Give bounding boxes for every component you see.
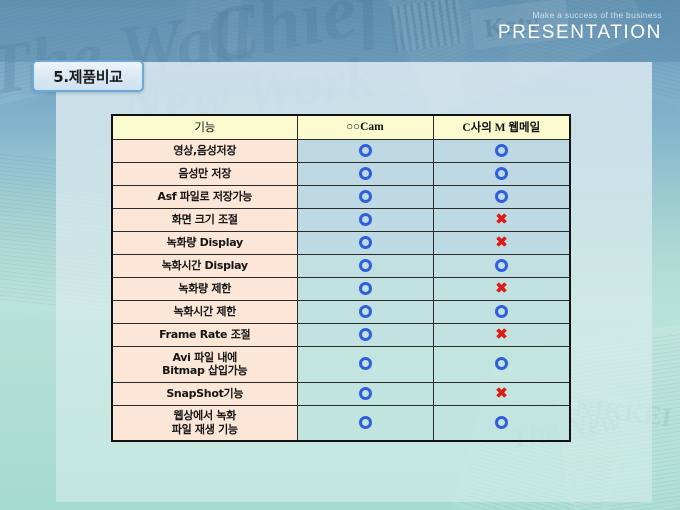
supported-circle-icon bbox=[495, 305, 508, 318]
column-header-oocam: ○○Cam bbox=[297, 115, 433, 139]
supported-circle-icon bbox=[359, 167, 372, 180]
supported-circle-icon bbox=[359, 259, 372, 272]
table-body: 영상,음성저장음성만 저장Asf 파일로 저장가능화면 크기 조절✖녹화량 Di… bbox=[112, 139, 570, 441]
mark-cell-c-webmail: ✖ bbox=[433, 323, 570, 346]
mark-cell-c-webmail: ✖ bbox=[433, 208, 570, 231]
table-header: 기능 ○○Cam C사의 M 웹메일 bbox=[112, 115, 570, 139]
table-row: 녹화시간 제한 bbox=[112, 300, 570, 323]
brand-tagline: Make a success of the business bbox=[498, 11, 662, 20]
feature-cell: 녹화량 제한 bbox=[112, 277, 297, 300]
mark-cell-oocam bbox=[297, 254, 433, 277]
table-row: 웹상에서 녹화파일 재생 기능 bbox=[112, 405, 570, 441]
feature-cell: 녹화시간 제한 bbox=[112, 300, 297, 323]
unsupported-cross-icon: ✖ bbox=[495, 235, 508, 250]
table-row: Avi 파일 내에Bitmap 삽입가능 bbox=[112, 346, 570, 382]
brand-block: Make a success of the business PRESENTAT… bbox=[498, 11, 662, 42]
slide-root: Katy Chief The Wall New Work The New NIK… bbox=[0, 0, 680, 510]
column-header-feature: 기능 bbox=[112, 115, 297, 139]
brand-title: PRESENTATION bbox=[498, 23, 662, 42]
feature-cell: 영상,음성저장 bbox=[112, 139, 297, 162]
table-row: 음성만 저장 bbox=[112, 162, 570, 185]
supported-circle-icon bbox=[359, 213, 372, 226]
table-row: 녹화량 제한✖ bbox=[112, 277, 570, 300]
table-row: 녹화시간 Display bbox=[112, 254, 570, 277]
supported-circle-icon bbox=[495, 259, 508, 272]
mark-cell-c-webmail: ✖ bbox=[433, 277, 570, 300]
feature-cell: SnapShot기능 bbox=[112, 382, 297, 405]
table-row: 영상,음성저장 bbox=[112, 139, 570, 162]
mark-cell-c-webmail: ✖ bbox=[433, 382, 570, 405]
table-row: 녹화량 Display✖ bbox=[112, 231, 570, 254]
mark-cell-c-webmail bbox=[433, 405, 570, 441]
supported-circle-icon bbox=[359, 357, 372, 370]
table-row: SnapShot기능✖ bbox=[112, 382, 570, 405]
slide-title-text: 5.제품비교 bbox=[53, 66, 123, 87]
supported-circle-icon bbox=[359, 387, 372, 400]
supported-circle-icon bbox=[359, 236, 372, 249]
supported-circle-icon bbox=[359, 416, 372, 429]
unsupported-cross-icon: ✖ bbox=[495, 212, 508, 227]
mark-cell-c-webmail: ✖ bbox=[433, 231, 570, 254]
supported-circle-icon bbox=[495, 167, 508, 180]
mark-cell-oocam bbox=[297, 162, 433, 185]
mark-cell-oocam bbox=[297, 323, 433, 346]
feature-cell: 화면 크기 조절 bbox=[112, 208, 297, 231]
mark-cell-c-webmail bbox=[433, 254, 570, 277]
mark-cell-c-webmail bbox=[433, 346, 570, 382]
product-comparison-table: 기능 ○○Cam C사의 M 웹메일 영상,음성저장음성만 저장Asf 파일로 … bbox=[111, 114, 571, 442]
mark-cell-oocam bbox=[297, 300, 433, 323]
mark-cell-c-webmail bbox=[433, 139, 570, 162]
mark-cell-c-webmail bbox=[433, 162, 570, 185]
table-row: 화면 크기 조절✖ bbox=[112, 208, 570, 231]
supported-circle-icon bbox=[359, 305, 372, 318]
mark-cell-oocam bbox=[297, 405, 433, 441]
supported-circle-icon bbox=[495, 357, 508, 370]
mark-cell-c-webmail bbox=[433, 185, 570, 208]
table-row: Asf 파일로 저장가능 bbox=[112, 185, 570, 208]
feature-cell: Asf 파일로 저장가능 bbox=[112, 185, 297, 208]
mark-cell-oocam bbox=[297, 346, 433, 382]
mark-cell-oocam bbox=[297, 185, 433, 208]
table-header-row: 기능 ○○Cam C사의 M 웹메일 bbox=[112, 115, 570, 139]
feature-cell: Frame Rate 조절 bbox=[112, 323, 297, 346]
supported-circle-icon bbox=[359, 190, 372, 203]
supported-circle-icon bbox=[359, 282, 372, 295]
unsupported-cross-icon: ✖ bbox=[495, 327, 508, 342]
mark-cell-oocam bbox=[297, 277, 433, 300]
table-row: Frame Rate 조절✖ bbox=[112, 323, 570, 346]
feature-cell: 녹화량 Display bbox=[112, 231, 297, 254]
mark-cell-c-webmail bbox=[433, 300, 570, 323]
unsupported-cross-icon: ✖ bbox=[495, 386, 508, 401]
supported-circle-icon bbox=[359, 144, 372, 157]
feature-cell: 웹상에서 녹화파일 재생 기능 bbox=[112, 405, 297, 441]
unsupported-cross-icon: ✖ bbox=[495, 281, 508, 296]
supported-circle-icon bbox=[495, 190, 508, 203]
supported-circle-icon bbox=[495, 416, 508, 429]
mark-cell-oocam bbox=[297, 208, 433, 231]
supported-circle-icon bbox=[495, 144, 508, 157]
feature-cell: 녹화시간 Display bbox=[112, 254, 297, 277]
feature-cell: 음성만 저장 bbox=[112, 162, 297, 185]
supported-circle-icon bbox=[359, 328, 372, 341]
mark-cell-oocam bbox=[297, 231, 433, 254]
slide-title-badge: 5.제품비교 bbox=[32, 60, 144, 92]
feature-cell: Avi 파일 내에Bitmap 삽입가능 bbox=[112, 346, 297, 382]
mark-cell-oocam bbox=[297, 139, 433, 162]
mark-cell-oocam bbox=[297, 382, 433, 405]
column-header-c-webmail: C사의 M 웹메일 bbox=[433, 115, 570, 139]
